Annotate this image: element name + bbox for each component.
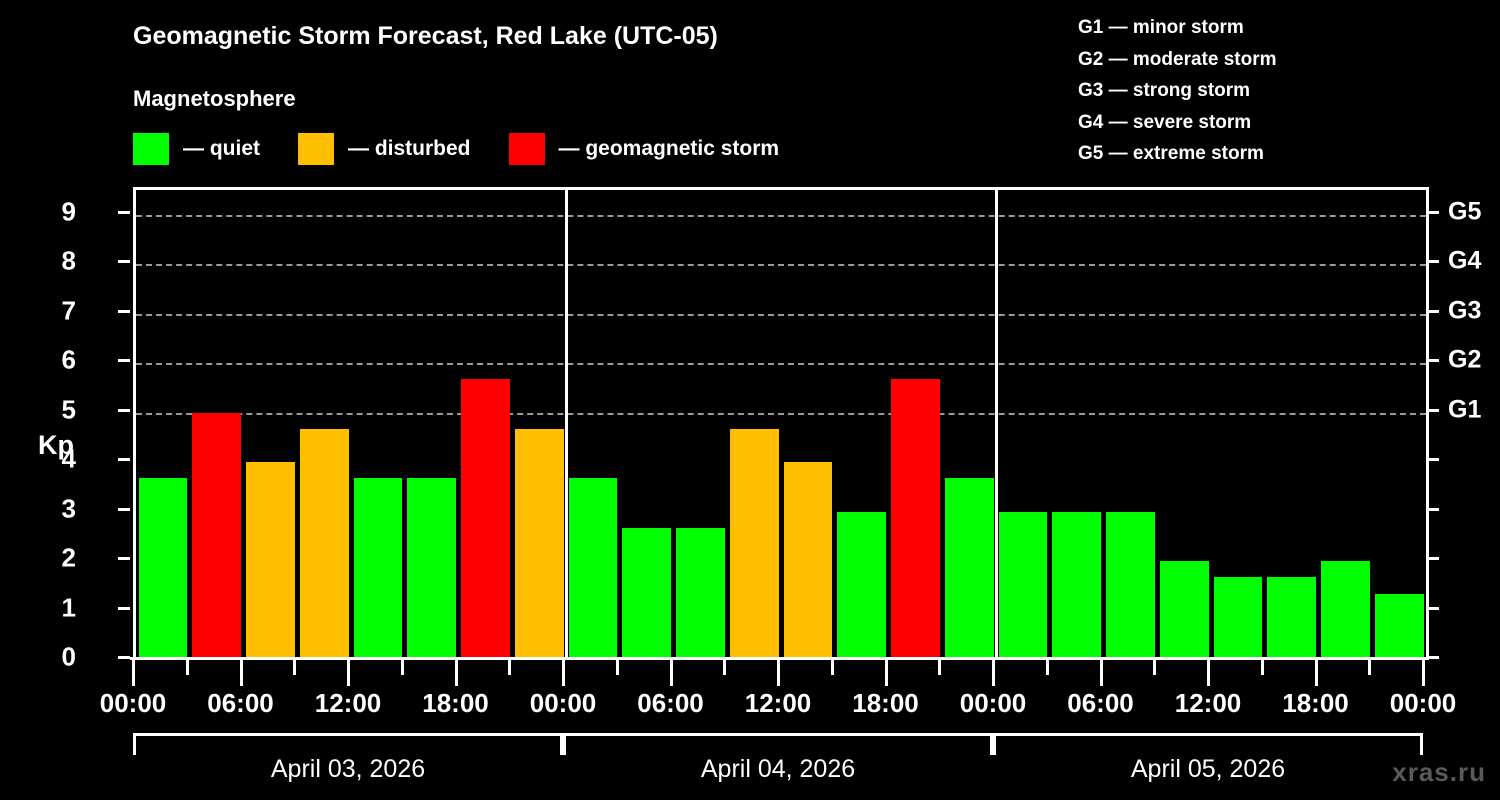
bar-5	[407, 478, 456, 660]
x-tick-major-18	[455, 660, 458, 686]
x-tick-label-4: 00:00	[530, 688, 597, 719]
x-tick-major-24	[562, 660, 565, 686]
legend-item-storm: — geomagnetic storm	[509, 133, 780, 165]
y-tick-9	[118, 211, 130, 214]
y-tick-label-0: 0	[36, 642, 76, 673]
legend-swatch-quiet	[133, 133, 169, 165]
legend-item-disturbed: — disturbed	[298, 133, 471, 165]
bar-15	[945, 478, 994, 660]
x-tick-label-7: 18:00	[852, 688, 919, 719]
g-tick-G3	[1426, 310, 1439, 313]
legend-label-disturbed: — disturbed	[348, 137, 471, 161]
legend-item-quiet: — quiet	[133, 133, 260, 165]
y-tick-1	[118, 607, 130, 610]
g-tick-G4	[1426, 260, 1439, 263]
x-tick-minor-39	[831, 660, 834, 675]
bar-19	[1160, 561, 1209, 660]
g-tick-label-G3: G3	[1448, 296, 1481, 325]
bar-8	[569, 478, 618, 660]
bar-4	[354, 478, 403, 660]
legend-label-storm: — geomagnetic storm	[559, 137, 780, 161]
x-tick-minor-57	[1153, 660, 1156, 675]
bar-13	[837, 512, 886, 660]
x-tick-label-9: 06:00	[1067, 688, 1134, 719]
bar-9	[622, 528, 671, 660]
x-tick-label-10: 12:00	[1175, 688, 1242, 719]
x-tick-label-6: 12:00	[745, 688, 812, 719]
page-title: Geomagnetic Storm Forecast, Red Lake (UT…	[133, 22, 718, 51]
g-tick-label-G4: G4	[1448, 247, 1481, 276]
g-tick-G2	[1426, 359, 1439, 362]
x-tick-label-11: 18:00	[1282, 688, 1349, 719]
bar-12	[784, 462, 833, 660]
x-tick-major-66	[1315, 660, 1318, 686]
y-tick-label-7: 7	[36, 295, 76, 326]
bar-series	[136, 190, 1426, 660]
x-tick-major-48	[992, 660, 995, 686]
bar-18	[1106, 512, 1155, 660]
bar-16	[999, 512, 1048, 660]
bar-11	[730, 429, 779, 660]
y-tick-label-4: 4	[36, 444, 76, 475]
x-tick-label-0: 00:00	[100, 688, 167, 719]
right-minor-tick-2	[1426, 557, 1439, 560]
x-tick-minor-3	[186, 660, 189, 675]
day-label-3: April 05, 2026	[1131, 755, 1285, 784]
y-tick-6	[118, 359, 130, 362]
x-tick-label-3: 18:00	[422, 688, 489, 719]
g-scale-row-2: G2 — moderate storm	[1078, 44, 1277, 76]
x-tick-major-30	[670, 660, 673, 686]
x-tick-minor-45	[938, 660, 941, 675]
right-minor-tick-3	[1426, 508, 1439, 511]
x-tick-major-42	[885, 660, 888, 686]
x-tick-major-36	[777, 660, 780, 686]
y-tick-label-2: 2	[36, 543, 76, 574]
x-tick-major-12	[347, 660, 350, 686]
x-tick-minor-21	[508, 660, 511, 675]
right-minor-tick-1	[1426, 607, 1439, 610]
x-tick-minor-51	[1046, 660, 1049, 675]
x-tick-minor-15	[401, 660, 404, 675]
x-tick-label-1: 06:00	[207, 688, 274, 719]
y-tick-5	[118, 409, 130, 412]
y-tick-label-9: 9	[36, 196, 76, 227]
y-tick-label-5: 5	[36, 394, 76, 425]
x-tick-label-8: 00:00	[960, 688, 1027, 719]
y-tick-label-6: 6	[36, 345, 76, 376]
y-tick-label-8: 8	[36, 246, 76, 277]
bar-17	[1052, 512, 1101, 660]
g-scale-row-5: G5 — extreme storm	[1078, 138, 1277, 170]
legend-swatch-storm	[509, 133, 545, 165]
bar-6	[461, 379, 510, 660]
y-tick-8	[118, 260, 130, 263]
g-scale-legend: G1 — minor stormG2 — moderate stormG3 — …	[1078, 12, 1277, 170]
x-tick-minor-69	[1368, 660, 1371, 675]
y-tick-label-3: 3	[36, 493, 76, 524]
bar-0	[139, 478, 188, 660]
g-tick-label-G1: G1	[1448, 395, 1481, 424]
y-tick-3	[118, 508, 130, 511]
bar-3	[300, 429, 349, 660]
x-tick-major-72	[1422, 660, 1425, 686]
y-tick-2	[118, 557, 130, 560]
bar-20	[1214, 577, 1263, 660]
bar-21	[1267, 577, 1316, 660]
day-bracket-2	[563, 733, 993, 755]
bar-23	[1375, 594, 1424, 660]
x-tick-major-6	[240, 660, 243, 686]
g-scale-row-4: G4 — severe storm	[1078, 107, 1277, 139]
g-tick-G1	[1426, 409, 1439, 412]
x-tick-major-60	[1207, 660, 1210, 686]
x-tick-label-5: 06:00	[637, 688, 704, 719]
g-scale-row-1: G1 — minor storm	[1078, 12, 1277, 44]
g-scale-row-3: G3 — strong storm	[1078, 75, 1277, 107]
day-label-2: April 04, 2026	[701, 755, 855, 784]
y-tick-7	[118, 310, 130, 313]
day-label-1: April 03, 2026	[271, 755, 425, 784]
x-tick-label-2: 12:00	[315, 688, 382, 719]
g-tick-G5	[1426, 211, 1439, 214]
bar-1	[192, 413, 241, 660]
y-tick-4	[118, 458, 130, 461]
y-tick-0	[118, 656, 130, 659]
g-tick-label-G2: G2	[1448, 346, 1481, 375]
x-tick-label-12: 00:00	[1390, 688, 1457, 719]
bar-14	[891, 379, 940, 660]
g-tick-label-G5: G5	[1448, 197, 1481, 226]
legend-label-quiet: — quiet	[183, 137, 260, 161]
x-tick-major-54	[1100, 660, 1103, 686]
x-tick-minor-27	[616, 660, 619, 675]
x-tick-minor-63	[1261, 660, 1264, 675]
day-separator-2	[995, 187, 998, 660]
legend-swatch-disturbed	[298, 133, 334, 165]
right-minor-tick-0	[1426, 656, 1439, 659]
chart-legend: — quiet— disturbed— geomagnetic storm	[133, 133, 817, 165]
day-bracket-1	[133, 733, 563, 755]
right-minor-tick-4	[1426, 458, 1439, 461]
bar-7	[515, 429, 564, 660]
bar-10	[676, 528, 725, 660]
bar-2	[246, 462, 295, 660]
day-separator-1	[565, 187, 568, 660]
chart-plot-area	[133, 187, 1429, 660]
x-tick-minor-9	[293, 660, 296, 675]
x-tick-major-0	[132, 660, 135, 686]
watermark: xras.ru	[1392, 757, 1486, 788]
bar-22	[1321, 561, 1370, 660]
y-tick-label-1: 1	[36, 592, 76, 623]
day-bracket-3	[993, 733, 1423, 755]
chart-subtitle: Magnetosphere	[133, 86, 296, 112]
x-tick-minor-33	[723, 660, 726, 675]
